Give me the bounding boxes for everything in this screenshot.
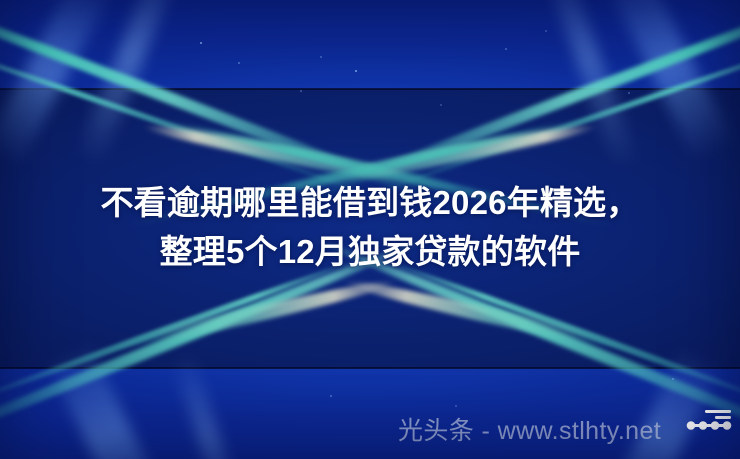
band-seam-upper (0, 88, 740, 90)
sparkle-dot (330, 395, 332, 397)
glow-streak-bottom-left-2 (171, 351, 251, 459)
glow-streak-bottom-left-1 (46, 341, 179, 459)
glow-streak-top-right-2 (537, 0, 640, 172)
sparkle-dot (440, 104, 442, 106)
sparkle-dot (320, 56, 322, 58)
background-band-bottom (0, 368, 740, 459)
teal-ribbon-upper-right-2 (353, 28, 740, 203)
promo-banner: 不看逾期哪里能借到钱2026年精选， 整理5个12月独家贷款的软件 光头条 - … (0, 0, 740, 459)
sparkle-dot (455, 405, 457, 407)
dots-bar-logo-icon (685, 407, 735, 439)
sparkle-dot (355, 70, 357, 72)
sparkle-dot (672, 378, 674, 380)
headline-line-2: 整理5个12月独家贷款的软件 (0, 227, 740, 276)
band-seam-lower (0, 367, 740, 369)
teal-ribbon-lower-right-3 (342, 275, 628, 355)
sparkle-dot (628, 92, 630, 94)
watermark-text: 光头条 - www.stlhty.net (398, 411, 661, 447)
teal-ribbon-lower-left-3 (112, 275, 398, 355)
sparkle-dot (505, 48, 507, 50)
sparkle-dot (238, 62, 240, 64)
site-watermark: 光头条 - www.stlhty.net (398, 413, 661, 445)
teal-ribbon-lower-left-2 (0, 257, 358, 411)
glow-streak-top-right-1 (599, 0, 734, 163)
sparkle-dot (200, 42, 202, 44)
headline-line-1: 不看逾期哪里能借到钱2026年精选， (0, 178, 740, 227)
background-band-top (0, 0, 740, 89)
sparkle-dot (300, 90, 302, 92)
sparkle-dot (545, 30, 547, 32)
glow-streak-bottom-right-1 (593, 346, 722, 459)
teal-ribbon-upper-left-2 (0, 28, 387, 203)
banner-headline: 不看逾期哪里能借到钱2026年精选， 整理5个12月独家贷款的软件 (0, 178, 740, 276)
glow-streak-top-left-1 (0, 0, 117, 167)
glow-streak-top-left-2 (76, 0, 186, 166)
teal-ribbon-lower-right-2 (382, 257, 740, 411)
